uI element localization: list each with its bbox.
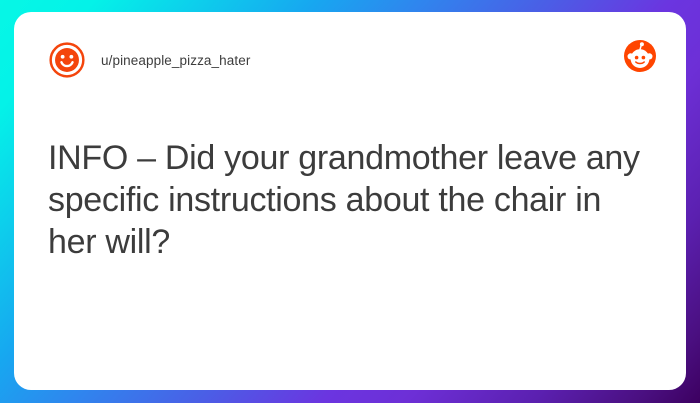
reddit-snoo-logo-icon (624, 40, 656, 72)
post-title: INFO – Did your grandmother leave any sp… (48, 138, 652, 264)
reddit-post-card: u/pineapple_pizza_hater INFO – Did your … (14, 12, 686, 390)
post-author-username[interactable]: u/pineapple_pizza_hater (101, 53, 250, 68)
screenshot-root: u/pineapple_pizza_hater INFO – Did your … (0, 0, 700, 403)
post-header: u/pineapple_pizza_hater (48, 38, 652, 82)
smiley-face-avatar-icon[interactable] (48, 41, 86, 79)
